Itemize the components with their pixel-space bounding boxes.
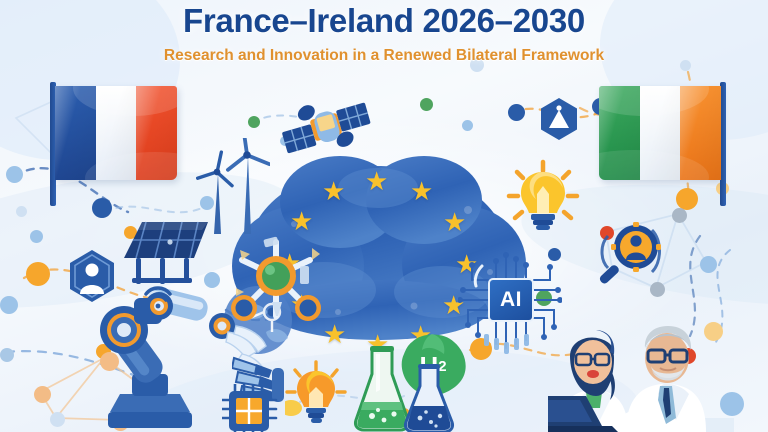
solar-panel-icon	[118, 206, 212, 284]
header: France–Ireland 2026–2030 Research and In…	[0, 2, 768, 65]
hexagon-badge-icon	[538, 96, 580, 142]
network-dot	[50, 412, 65, 427]
eu-star: ★	[365, 168, 388, 194]
network-dot	[672, 208, 687, 223]
magnifier-talent-icon	[594, 218, 668, 292]
microchip-icon	[222, 384, 280, 432]
poster-canvas: ★ ★ ★ ★ ★ ★ ★ ★ ★ ★ ★ ★ European Union	[0, 0, 768, 432]
network-dot	[248, 116, 260, 128]
network-dot	[420, 98, 433, 111]
eu-star: ★	[410, 178, 433, 204]
france-flag-body	[55, 86, 177, 180]
network-dot	[508, 104, 525, 121]
page-subtitle: Research and Innovation in a Renewed Bil…	[0, 47, 768, 65]
ai-chip-icon: AI	[458, 252, 562, 356]
network-dot	[0, 348, 14, 362]
ireland-flag: Ireland	[594, 82, 726, 206]
ai-chip-label: AI	[488, 278, 534, 322]
network-dot	[700, 256, 717, 273]
network-dot	[30, 230, 43, 243]
network-dot	[0, 296, 18, 314]
lightbulb-small-icon	[285, 360, 347, 428]
france-flag: France	[50, 82, 182, 206]
network-dot	[26, 262, 50, 286]
scientists-icon	[548, 300, 734, 432]
network-dot	[34, 386, 51, 403]
flask-blue-icon	[400, 364, 458, 432]
lightbulb-icon	[505, 158, 581, 234]
network-dot	[16, 206, 27, 217]
eu-star: ★	[290, 208, 313, 234]
page-title: France–Ireland 2026–2030	[0, 2, 768, 40]
eu-star: ★	[322, 178, 345, 204]
network-dot	[462, 120, 473, 131]
network-dot	[6, 166, 23, 183]
satellite-icon	[278, 88, 374, 166]
ireland-flag-body	[599, 86, 721, 180]
eu-star: ★	[443, 209, 466, 235]
